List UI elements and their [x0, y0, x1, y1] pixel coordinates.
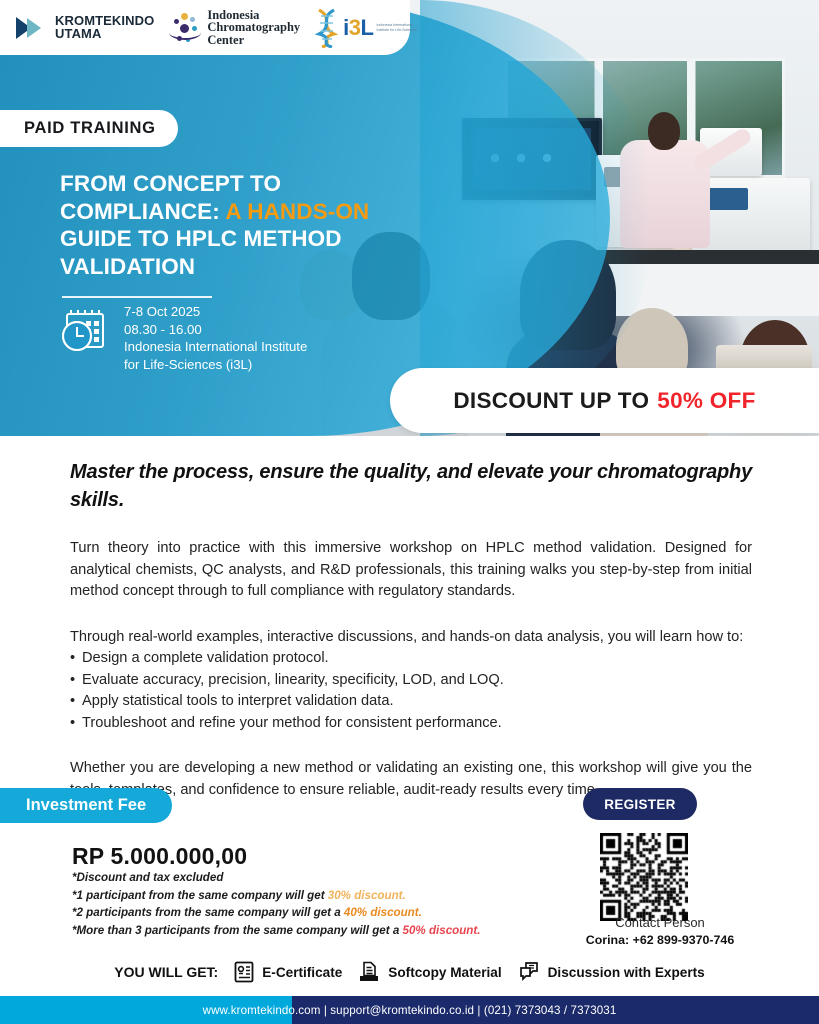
i3l-l: L [361, 15, 374, 40]
discount-banner: DISCOUNT UP TO 50% OFF [390, 368, 819, 433]
logo-indonesia-chromatography-center: Indonesia Chromatography Center [168, 9, 300, 47]
discount-notes: *Discount and tax excluded *1 participan… [72, 869, 542, 939]
icc-line2: Chromatography [207, 21, 300, 34]
footer-phone: (021) 7373043 / 7373031 [484, 1004, 617, 1017]
note-tax: *Discount and tax excluded [72, 869, 542, 887]
note-3: *More than 3 participants from the same … [72, 922, 542, 940]
footer-bar: www.kromtekindo.com | support@kromtekind… [0, 996, 819, 1024]
kromtekindo-chevron-icon [16, 17, 50, 39]
list-item: Evaluate accuracy, precision, linearity,… [70, 670, 752, 692]
page-title: FROM CONCEPT TO COMPLIANCE: A HANDS-ON G… [60, 170, 390, 280]
note-2-value: 40% discount. [344, 906, 422, 919]
benefit-softcopy-material: Softcopy Material [358, 961, 501, 983]
note-3-value: 50% discount. [403, 924, 481, 937]
title-accent: A HANDS-ON [225, 199, 369, 224]
footer-sep-2: | [477, 1004, 480, 1017]
note-1: *1 participant from the same company wil… [72, 887, 542, 905]
benefit-discussion-with-experts: Discussion with Experts [518, 961, 705, 983]
note-3-text: *More than 3 participants from the same … [72, 924, 403, 937]
i3l-3: 3 [349, 15, 361, 40]
certificate-icon [234, 961, 254, 983]
note-2: *2 participants from the same company wi… [72, 904, 542, 922]
footer-website[interactable]: www.kromtekindo.com [203, 1004, 321, 1017]
kromtekindo-line2: UTAMA [55, 28, 154, 41]
title-divider [62, 296, 212, 298]
footer-sep-1: | [324, 1004, 327, 1017]
benefits-label: YOU WILL GET: [114, 964, 218, 980]
footer-email[interactable]: support@kromtekindo.co.id [330, 1004, 474, 1017]
learning-outcomes-list: Design a complete validation protocol. E… [70, 648, 752, 734]
event-venue-line2: for Life-Sciences (i3L) [124, 356, 307, 374]
icc-wordmark: Indonesia Chromatography Center [207, 9, 300, 47]
event-time: 08.30 - 16.00 [124, 321, 307, 339]
logo-kromtekindo: KROMTEKINDO UTAMA [16, 15, 154, 40]
benefit-label: Softcopy Material [388, 965, 501, 980]
contact-person-label: Contact Person [560, 915, 760, 930]
benefit-label: Discussion with Experts [548, 965, 705, 980]
i3l-wordmark: i3L [343, 15, 373, 41]
contact-name: Corina: [586, 933, 629, 947]
benefits-row: YOU WILL GET: E-Certificate Softcopy Mat… [0, 955, 819, 989]
list-item: Design a complete validation protocol. [70, 648, 752, 670]
contact-phone: +62 899-9370-746 [633, 933, 735, 947]
i3l-subtitle: Indonesia International Institute for Li… [377, 23, 421, 33]
chat-icon [518, 961, 540, 983]
register-button[interactable]: REGISTER [583, 788, 697, 820]
investment-fee-pill: Investment Fee [0, 788, 172, 823]
event-venue-line1: Indonesia International Institute [124, 338, 307, 356]
presenter-head-decor [648, 112, 680, 150]
document-icon [358, 961, 380, 983]
title-part-2: GUIDE TO HPLC METHOD VALIDATION [60, 226, 342, 279]
note-1-value: 30% discount. [328, 889, 406, 902]
logo-i3l: i3L Indonesia International Institute fo… [314, 8, 420, 48]
price-amount: RP 5.000.000,00 [72, 843, 247, 870]
icc-line3: Center [207, 34, 300, 47]
note-1-text: *1 participant from the same company wil… [72, 889, 328, 902]
paragraph-2: Through real-world examples, interactive… [70, 627, 752, 649]
list-item: Apply statistical tools to interpret val… [70, 691, 752, 713]
main-content: Master the process, ensure the quality, … [0, 436, 819, 801]
paid-training-badge: PAID TRAINING [0, 110, 178, 147]
logo-header-card: KROMTEKINDO UTAMA Indonesia Chromatograp… [0, 0, 410, 55]
paragraph-1: Turn theory into practice with this imme… [70, 538, 752, 603]
benefit-e-certificate: E-Certificate [234, 961, 342, 983]
contact-person-value: Corina: +62 899-9370-746 [550, 933, 770, 947]
list-item: Troubleshoot and refine your method for … [70, 713, 752, 735]
orbit-icon [169, 25, 201, 40]
kromtekindo-wordmark: KROMTEKINDO UTAMA [55, 15, 154, 40]
qr-code[interactable] [600, 833, 688, 921]
hero-banner: PAID TRAINING FROM CONCEPT TO COMPLIANCE… [0, 0, 819, 436]
calendar-clock-icon [60, 303, 112, 353]
event-details: 7-8 Oct 2025 08.30 - 16.00 Indonesia Int… [60, 303, 307, 373]
event-text: 7-8 Oct 2025 08.30 - 16.00 Indonesia Int… [124, 303, 307, 373]
footer-text: www.kromtekindo.com | support@kromtekind… [0, 1004, 819, 1017]
discount-value: 50% OFF [657, 388, 755, 414]
note-2-text: *2 participants from the same company wi… [72, 906, 344, 919]
discount-label: DISCOUNT UP TO [453, 388, 649, 414]
lead-statement: Master the process, ensure the quality, … [70, 458, 752, 514]
event-date: 7-8 Oct 2025 [124, 303, 307, 321]
benefit-label: E-Certificate [262, 965, 342, 980]
molecule-icon [168, 13, 202, 43]
dna-helix-icon [314, 8, 340, 48]
